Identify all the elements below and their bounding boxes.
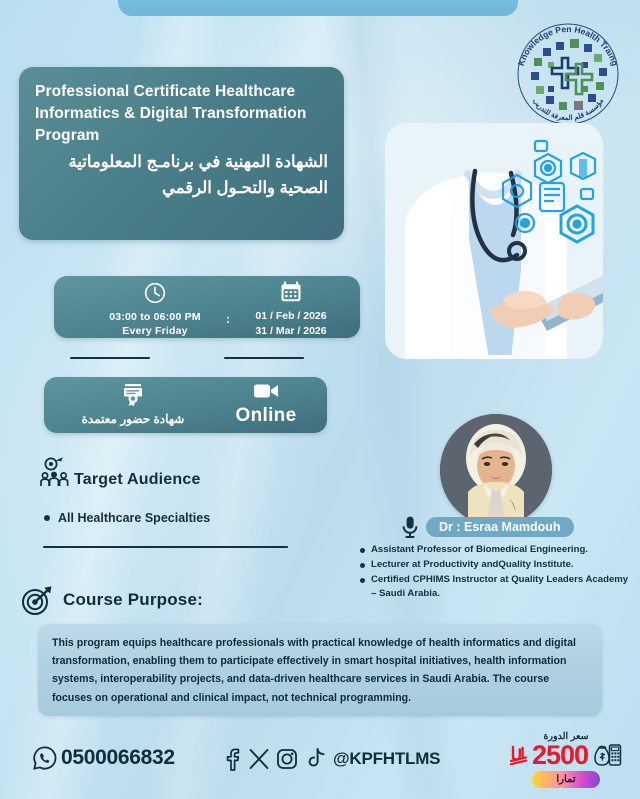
bullet-dot (360, 548, 365, 553)
credential-text: Certified CPHIMS Instructor at Quality L… (371, 573, 632, 599)
program-title-arabic: الشهادة المهنية في برنامـج المعلوماتية ا… (35, 150, 328, 201)
certificate-icon (58, 381, 208, 407)
course-purpose-text: This program equips healthcare professio… (52, 634, 588, 707)
money-bag-calculator-icon (592, 741, 622, 769)
target-audience-title: Target Audience (74, 471, 201, 489)
price-amount: 2500 (532, 742, 588, 769)
whatsapp-icon[interactable] (32, 745, 58, 771)
whatsapp-contact[interactable]: 0500066832 (32, 745, 175, 771)
calendar-icon (236, 280, 346, 304)
credential-text: Assistant Professor of Biomedical Engine… (371, 543, 588, 556)
certificate-label: شهادة حضور معتمدة (58, 411, 208, 427)
target-audience-item: All Healthcare Specialties (44, 511, 210, 525)
video-camera-icon (216, 381, 316, 401)
divider-target-audience (43, 546, 288, 548)
delivery-mode-pill: شهادة حضور معتمدة Online (44, 377, 327, 433)
bullet-dot (360, 563, 365, 568)
schedule-pill: 03:00 to 06:00 PM Every Friday 01 / Feb … (54, 276, 360, 338)
schedule-end-date: 31 / Mar / 2026 (236, 324, 346, 339)
course-purpose-header: Course Purpose: (20, 583, 203, 617)
bullet-dot (44, 515, 50, 521)
tiktok-icon[interactable] (304, 747, 326, 771)
program-title-box: Professional Certificate Healthcare Info… (19, 67, 344, 240)
course-purpose-title: Course Purpose: (63, 590, 203, 610)
schedule-start-date: 01 / Feb / 2026 (236, 309, 346, 324)
target-audience-section: Target Audience All Healthcare Specialti… (38, 455, 210, 525)
online-label: Online (216, 403, 316, 429)
facebook-icon[interactable] (222, 747, 242, 771)
instructor-photo (440, 414, 552, 526)
credential-item: Assistant Professor of Biomedical Engine… (360, 543, 632, 556)
schedule-time: 03:00 to 06:00 PM (90, 310, 220, 324)
price-section: سعر الدورة 2500 (502, 731, 630, 788)
target-dart-icon (20, 583, 54, 617)
divider-right (224, 357, 304, 359)
divider-left (70, 357, 150, 359)
credential-text: Lecturer at Productivity andQuality Inst… (371, 558, 574, 571)
phone-number[interactable]: 0500066832 (61, 746, 175, 770)
schedule-day: Every Friday (90, 324, 220, 338)
date-separator: : (226, 312, 230, 326)
instructor-name-row: Dr : Esraa Mamdouh (400, 515, 574, 539)
target-audience-people-icon (38, 455, 72, 489)
saudi-riyal-symbol (510, 744, 528, 766)
x-twitter-icon[interactable] (248, 748, 270, 770)
top-tab-bar (118, 0, 518, 16)
social-handle[interactable]: @KPFHTLMS (333, 749, 440, 769)
program-title-english: Professional Certificate Healthcare Info… (35, 81, 328, 147)
instructor-name: Dr : Esraa Mamdouh (426, 517, 574, 537)
social-links[interactable]: @KPFHTLMS (222, 747, 440, 771)
clock-icon (90, 281, 220, 305)
bullet-dot (360, 578, 365, 583)
knowledge-pen-health-training-logo: Knowledge Pen Health Traing مؤسسة قلم ال… (504, 6, 632, 132)
instagram-icon[interactable] (276, 748, 298, 770)
microphone-icon (400, 515, 420, 539)
poster: Knowledge Pen Health Traing مؤسسة قلم ال… (0, 0, 640, 799)
hero-doctor-image (385, 123, 603, 359)
course-purpose-box: This program equips healthcare professio… (38, 624, 602, 716)
credential-item: Certified CPHIMS Instructor at Quality L… (360, 573, 632, 599)
tamara-label: تمارا (556, 774, 575, 785)
target-audience-item-label: All Healthcare Specialties (58, 511, 210, 525)
instructor-credentials: Assistant Professor of Biomedical Engine… (360, 543, 632, 602)
tamara-badge: تمارا (532, 771, 600, 788)
credential-item: Lecturer at Productivity andQuality Inst… (360, 558, 632, 571)
